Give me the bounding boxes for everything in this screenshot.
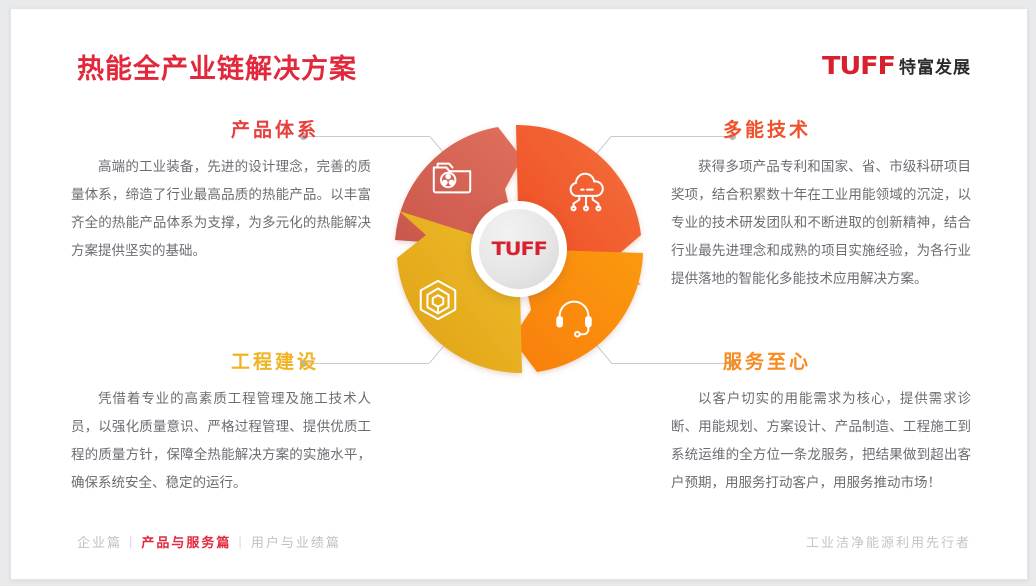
footer-tagline: 工业洁净能源利用先行者 (806, 532, 971, 551)
donut-center-inner: TUFF (479, 209, 559, 289)
quadrant-engineering: 工程建设 凭借着专业的高素质工程管理及施工技术人员，以强化质量意识、严格过程管理… (71, 347, 371, 497)
footer-nav-item-products-services[interactable]: 产品与服务篇 (141, 532, 231, 551)
quadrant-product-system: 产品体系 高端的工业装备，先进的设计理念，完善的质量体系，缔造了行业最高品质的热… (71, 115, 371, 265)
quadrant-heading-service: 服务至心 (671, 347, 971, 374)
quadrant-body-tech: 获得多项产品专利和国家、省、市级科研项目奖项，结合积累数十年在工业用能领域的沉淀… (671, 153, 971, 293)
quadrant-heading-product: 产品体系 (71, 115, 371, 142)
quadrant-heading-engineering: 工程建设 (71, 347, 371, 374)
footer-separator-2: | (238, 534, 243, 549)
center-logo-text: TUFF (491, 238, 546, 260)
quadrant-body-service: 以客户切实的用能需求为核心，提供需求诊断、用能规划、方案设计、产品制造、工程施工… (671, 385, 971, 497)
footer-nav: 企业篇 | 产品与服务篇 | 用户与业绩篇 (77, 532, 341, 551)
donut-diagram: TUFF (385, 115, 653, 383)
footer-nav-item-enterprise[interactable]: 企业篇 (77, 532, 122, 551)
quadrant-body-engineering: 凭借着专业的高素质工程管理及施工技术人员，以强化质量意识、严格过程管理、提供优质… (71, 385, 371, 497)
brand-logo: TUFF 特富发展 (822, 51, 971, 80)
donut-center-hub: TUFF (471, 201, 567, 297)
quadrant-multi-energy-tech: 多能技术 获得多项产品专利和国家、省、市级科研项目奖项，结合积累数十年在工业用能… (671, 115, 971, 293)
footer-nav-item-users-performance[interactable]: 用户与业绩篇 (251, 532, 341, 551)
slide-canvas: 热能全产业链解决方案 TUFF 特富发展 产品体系 高端的工业装备，先进的设计理… (10, 8, 1028, 580)
logo-chinese-name: 特富发展 (899, 53, 971, 78)
logo-wordmark: TUFF (822, 51, 895, 80)
page-title: 热能全产业链解决方案 (77, 47, 357, 86)
quadrant-heading-tech: 多能技术 (671, 115, 971, 142)
quadrant-service: 服务至心 以客户切实的用能需求为核心，提供需求诊断、用能规划、方案设计、产品制造… (671, 347, 971, 497)
footer-separator-1: | (129, 534, 134, 549)
quadrant-body-product: 高端的工业装备，先进的设计理念，完善的质量体系，缔造了行业最高品质的热能产品。以… (71, 153, 371, 265)
